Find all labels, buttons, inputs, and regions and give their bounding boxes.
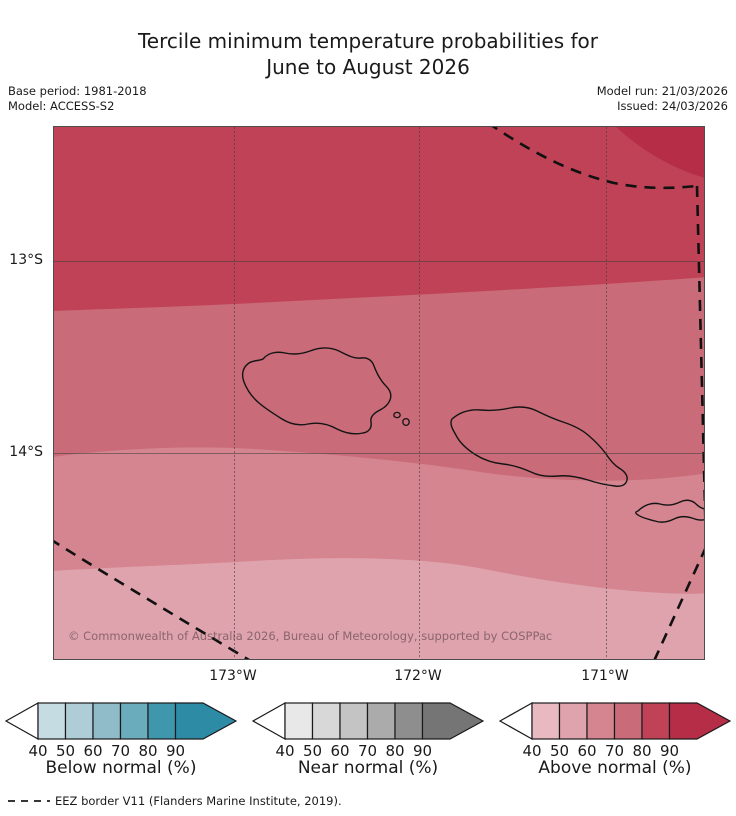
- cb2-arrow-right: [670, 703, 731, 739]
- map-canvas: © Commonwealth of Australia 2026, Bureau…: [54, 127, 704, 659]
- colorbar-near-normal: 40 50 60 70 80 90 Near normal (%): [252, 700, 484, 764]
- model-text: Model: ACCESS-S2: [8, 99, 147, 114]
- cb0-swatch-4: [121, 703, 149, 739]
- y-tick-label-14S: 14°S: [9, 444, 43, 460]
- x-tick-label-172W: 172°W: [394, 668, 442, 684]
- cb1-swatch-5: [395, 703, 423, 739]
- cb1-swatch-2: [313, 703, 341, 739]
- issued-text: Issued: 24/03/2026: [597, 99, 728, 114]
- title-line-2: June to August 2026: [266, 55, 470, 79]
- map-container: © Commonwealth of Australia 2026, Bureau…: [53, 126, 705, 660]
- page-title: Tercile minimum temperature probabilitie…: [0, 28, 736, 80]
- cb1-swatch-4: [368, 703, 396, 739]
- cb2-swatch-4: [615, 703, 643, 739]
- title-line-1: Tercile minimum temperature probabilitie…: [138, 29, 598, 53]
- colorbar-above-normal: 40 50 60 70 80 90 Above normal (%): [499, 700, 731, 764]
- colorbar-above-normal-swatches: [499, 700, 731, 742]
- cb0-swatch-2: [66, 703, 94, 739]
- gridline-lon-172: [419, 127, 420, 659]
- cb0-swatch-3: [93, 703, 121, 739]
- cb2-swatch-5: [642, 703, 670, 739]
- cb0-swatch-1: [38, 703, 66, 739]
- cb2-arrow-left: [500, 703, 532, 739]
- map-frame: © Commonwealth of Australia 2026, Bureau…: [53, 126, 705, 660]
- cb0-title: Below normal (%): [5, 758, 237, 778]
- colorbar-below-normal-swatches: [5, 700, 237, 742]
- metadata-right: Model run: 21/03/2026 Issued: 24/03/2026: [597, 84, 728, 114]
- cb1-arrow-right: [423, 703, 484, 739]
- cb0-swatch-5: [148, 703, 176, 739]
- cb2-title: Above normal (%): [499, 758, 731, 778]
- model-run-text: Model run: 21/03/2026: [597, 84, 728, 99]
- metadata-left: Base period: 1981-2018 Model: ACCESS-S2: [8, 84, 147, 114]
- colorbar-below-normal: 40 50 60 70 80 90 Below normal (%): [5, 700, 237, 764]
- dashed-line-icon: [6, 796, 52, 806]
- cb1-arrow-left: [253, 703, 285, 739]
- x-tick-label-173W: 173°W: [209, 668, 257, 684]
- cb1-swatch-1: [285, 703, 313, 739]
- y-tick-label-13S: 13°S: [9, 252, 43, 268]
- base-period-text: Base period: 1981-2018: [8, 84, 147, 99]
- x-tick-label-171W: 171°W: [581, 668, 629, 684]
- copyright-text: © Commonwealth of Australia 2026, Bureau…: [68, 629, 552, 643]
- gridline-lon-173: [234, 127, 235, 659]
- cb0-arrow-right: [176, 703, 237, 739]
- gridline-lon-171: [606, 127, 607, 659]
- cb1-title: Near normal (%): [252, 758, 484, 778]
- cb2-swatch-2: [560, 703, 588, 739]
- footer-legend: EEZ border V11 (Flanders Marine Institut…: [6, 794, 342, 808]
- colorbar-near-normal-swatches: [252, 700, 484, 742]
- cb2-swatch-3: [587, 703, 615, 739]
- cb2-swatch-1: [532, 703, 560, 739]
- footer-text: EEZ border V11 (Flanders Marine Institut…: [55, 794, 342, 808]
- cb1-swatch-3: [340, 703, 368, 739]
- cb0-arrow-left: [6, 703, 38, 739]
